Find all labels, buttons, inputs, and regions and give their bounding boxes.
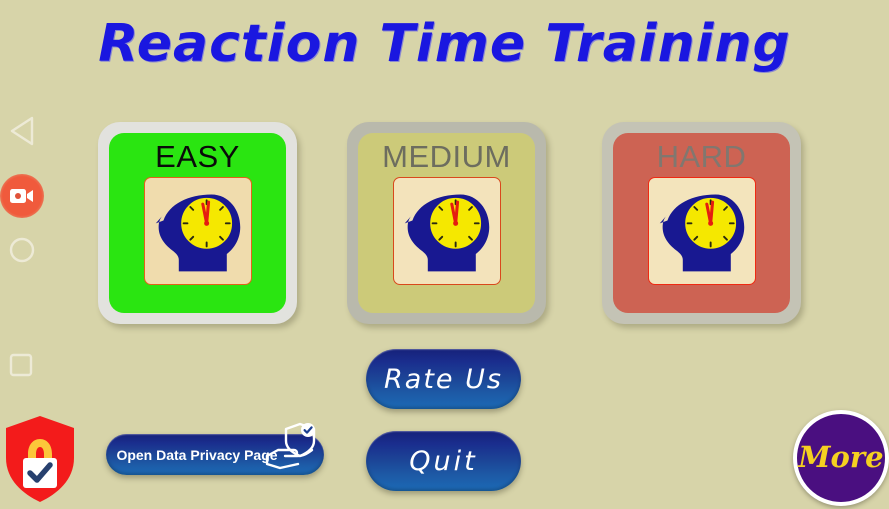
card-label-medium: MEDIUM xyxy=(382,141,511,172)
difficulty-card-row: EASY xyxy=(0,122,889,327)
more-badge-button[interactable]: More xyxy=(793,410,889,506)
back-triangle-icon[interactable] xyxy=(8,115,38,147)
card-inner-hard: HARD xyxy=(613,133,790,313)
page-title: Reaction Time Training xyxy=(0,14,889,74)
app-screen: Reaction Time Training EASY xyxy=(0,0,889,500)
shield-lock-check-icon[interactable] xyxy=(2,414,78,504)
privacy-label: Open Data Privacy Page xyxy=(116,447,277,463)
card-label-easy: EASY xyxy=(155,141,240,172)
brain-clock-icon xyxy=(144,177,252,285)
card-inner-easy: EASY xyxy=(109,133,286,313)
difficulty-card-hard[interactable]: HARD xyxy=(602,122,801,324)
video-record-icon[interactable] xyxy=(0,174,44,218)
quit-button[interactable]: Quit xyxy=(366,431,521,491)
difficulty-card-medium[interactable]: MEDIUM xyxy=(347,122,546,324)
recents-square-icon[interactable] xyxy=(8,352,34,378)
difficulty-card-easy[interactable]: EASY xyxy=(98,122,297,324)
rate-us-button[interactable]: Rate Us xyxy=(366,349,521,409)
brain-clock-icon xyxy=(648,177,756,285)
brain-clock-icon xyxy=(393,177,501,285)
card-inner-medium: MEDIUM xyxy=(358,133,535,313)
quit-label: Quit xyxy=(409,446,477,477)
open-data-privacy-page-button[interactable]: Open Data Privacy Page xyxy=(106,434,324,475)
card-label-hard: HARD xyxy=(657,141,747,172)
home-circle-icon[interactable] xyxy=(8,236,36,264)
rate-us-label: Rate Us xyxy=(384,364,503,395)
shield-check-hand-icon xyxy=(264,420,320,472)
more-label: More xyxy=(798,440,883,474)
